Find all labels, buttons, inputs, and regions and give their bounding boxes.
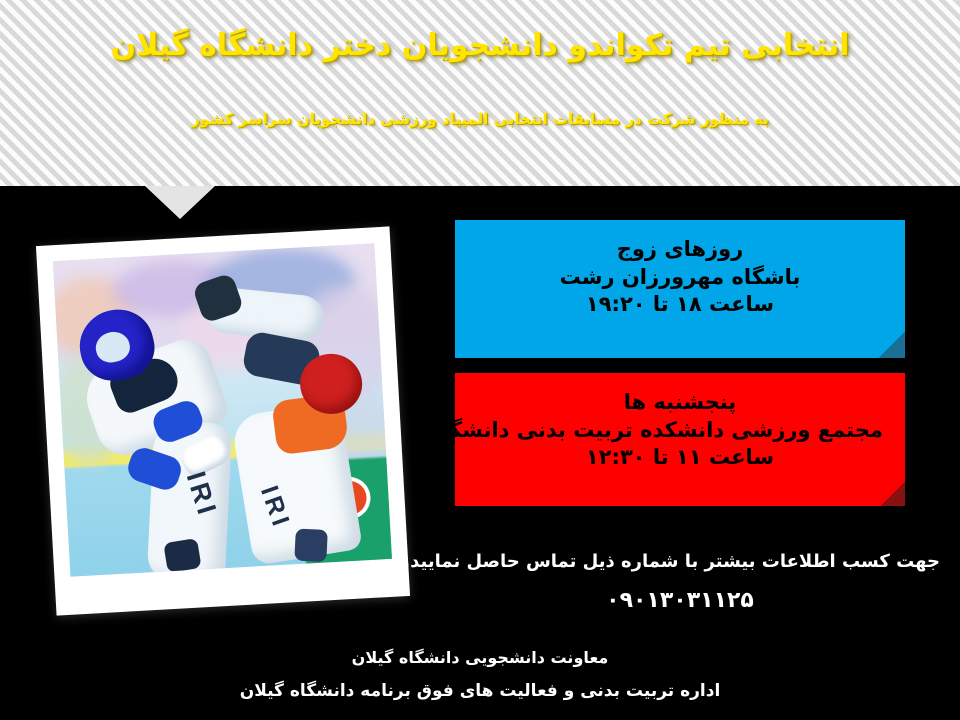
- schedule-day: روزهای زوج: [477, 236, 883, 264]
- schedule-card-thursdays: پنجشنبه ها مجتمع ورزشی دانشکده تربیت بدن…: [455, 373, 905, 506]
- page-fold-icon: [881, 482, 905, 506]
- footer-department: اداره تربیت بدنی و فعالیت های فوق برنامه…: [0, 681, 960, 701]
- page-fold-icon: [879, 332, 905, 358]
- schedule-venue: باشگاه مهرورزان رشت: [477, 264, 883, 292]
- page-subtitle: به منظور شرکت در مسابقات انتخابی المپیاد…: [0, 110, 960, 128]
- schedule-card-even-days: روزهای زوج باشگاه مهرورزان رشت ساعت ۱۸ ت…: [455, 220, 905, 358]
- photo-frame: IRI IRI: [36, 226, 410, 615]
- schedule-day: پنجشنبه ها: [477, 389, 883, 417]
- athlete-foot-guard: [163, 538, 201, 573]
- athlete-foot-guard: [294, 529, 328, 563]
- contact-phone-number[interactable]: ۰۹۰۱۳۰۳۱۱۲۵: [420, 588, 940, 613]
- contact-note: جهت کسب اطلاعات بیشتر با شماره ذیل تماس …: [420, 551, 940, 572]
- photo-scene: IRI IRI: [53, 243, 392, 576]
- footer-organization: معاونت دانشجویی دانشگاه گیلان: [0, 648, 960, 667]
- poster-canvas: انتخابی تیم تکواندو دانشجویان دختر دانشگ…: [0, 0, 960, 720]
- taekwondo-photo: IRI IRI: [53, 243, 392, 576]
- speech-bubble-tail-icon: [145, 186, 215, 219]
- page-title: انتخابی تیم تکواندو دانشجویان دختر دانشگ…: [0, 28, 960, 63]
- schedule-time: ساعت ۱۸ تا ۱۹:۲۰: [477, 291, 883, 319]
- schedule-venue: مجتمع ورزشی دانشکده تربیت بدنی دانشگاه گ…: [477, 417, 883, 445]
- schedule-time: ساعت ۱۱ تا ۱۲:۳۰: [477, 444, 883, 472]
- poster-header: انتخابی تیم تکواندو دانشجویان دختر دانشگ…: [0, 0, 960, 186]
